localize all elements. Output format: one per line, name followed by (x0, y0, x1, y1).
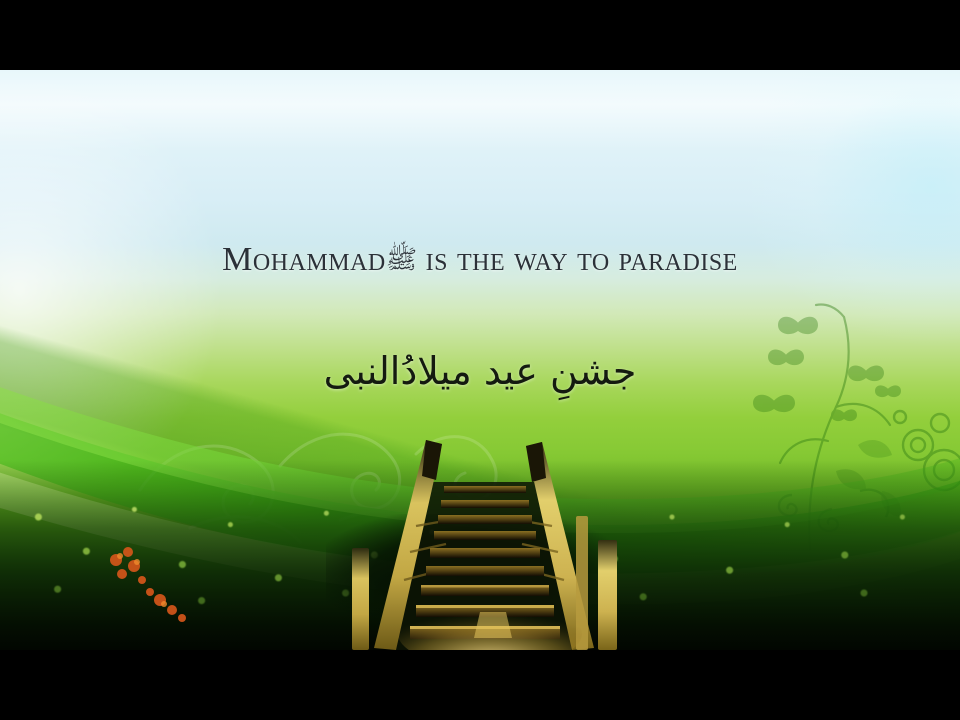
caption-english-rest: is the way to paradise (417, 241, 738, 278)
wooden-staircase (330, 420, 640, 650)
caption-english: Mohammadﷺ is the way to paradise (0, 243, 960, 277)
letterbox-bar-top (0, 0, 960, 70)
orange-flowers (90, 522, 290, 632)
caption-english-name: Mohammad (222, 241, 386, 278)
video-player: Mohammadﷺ is the way to paradise جشنِ عی… (0, 0, 960, 720)
sallallahu-alayhi-wasallam-glyph: ﷺ (386, 245, 417, 275)
letterbox-bar-bottom (0, 650, 960, 720)
caption-urdu: جشنِ عید میلادُالنبی (0, 346, 960, 397)
video-frame: Mohammadﷺ is the way to paradise جشنِ عی… (0, 70, 960, 650)
